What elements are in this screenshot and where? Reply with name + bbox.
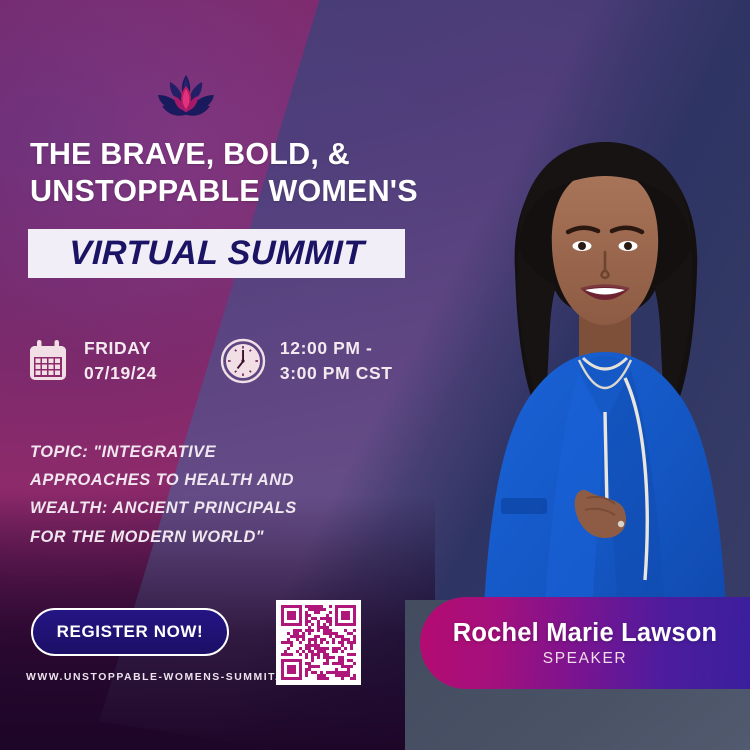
topic-line-3: WEALTH: ANCIENT PRINCIPALS — [30, 494, 360, 522]
speaker-role: SPEAKER — [543, 650, 627, 668]
topic-line-1: TOPIC: "INTEGRATIVE — [30, 438, 360, 466]
topic-line-2: APPROACHES TO HEALTH AND — [30, 466, 360, 494]
lotus-flower-icon — [150, 66, 222, 128]
website-url[interactable]: WWW.UNSTOPPABLE-WOMENS-SUMMIT.COM — [26, 672, 308, 683]
date-text: FRIDAY 07/19/24 — [84, 336, 157, 386]
time-end: 3:00 PM CST — [280, 361, 393, 386]
date-value: 07/19/24 — [84, 361, 157, 386]
speaker-banner: Rochel Marie Lawson SPEAKER — [420, 597, 750, 689]
clock-icon — [220, 338, 266, 384]
headline-line-2: UNSTOPPABLE WOMEN'S — [30, 173, 500, 210]
time-start: 12:00 PM - — [280, 336, 393, 361]
qr-code-icon[interactable] — [276, 600, 361, 685]
topic-text: TOPIC: "INTEGRATIVE APPROACHES TO HEALTH… — [30, 438, 360, 551]
subtitle-banner: VIRTUAL SUMMIT — [28, 229, 405, 278]
time-block: 12:00 PM - 3:00 PM CST — [220, 336, 393, 386]
speaker-name: Rochel Marie Lawson — [453, 619, 718, 648]
date-day: FRIDAY — [84, 336, 157, 361]
register-now-label: REGISTER NOW! — [57, 622, 204, 642]
calendar-icon — [26, 338, 70, 384]
topic-line-4: FOR THE MODERN WORLD" — [30, 523, 360, 551]
event-meta-row: FRIDAY 07/19/24 — [26, 336, 393, 386]
headline-line-1: THE BRAVE, BOLD, & — [30, 136, 500, 173]
date-block: FRIDAY 07/19/24 — [26, 336, 157, 386]
headline: THE BRAVE, BOLD, & UNSTOPPABLE WOMEN'S — [30, 136, 500, 210]
event-flyer: THE BRAVE, BOLD, & UNSTOPPABLE WOMEN'S V… — [0, 0, 750, 750]
time-text: 12:00 PM - 3:00 PM CST — [280, 336, 393, 386]
speaker-portrait — [455, 120, 750, 680]
register-now-button[interactable]: REGISTER NOW! — [31, 608, 229, 656]
subtitle-text: VIRTUAL SUMMIT — [68, 234, 365, 273]
